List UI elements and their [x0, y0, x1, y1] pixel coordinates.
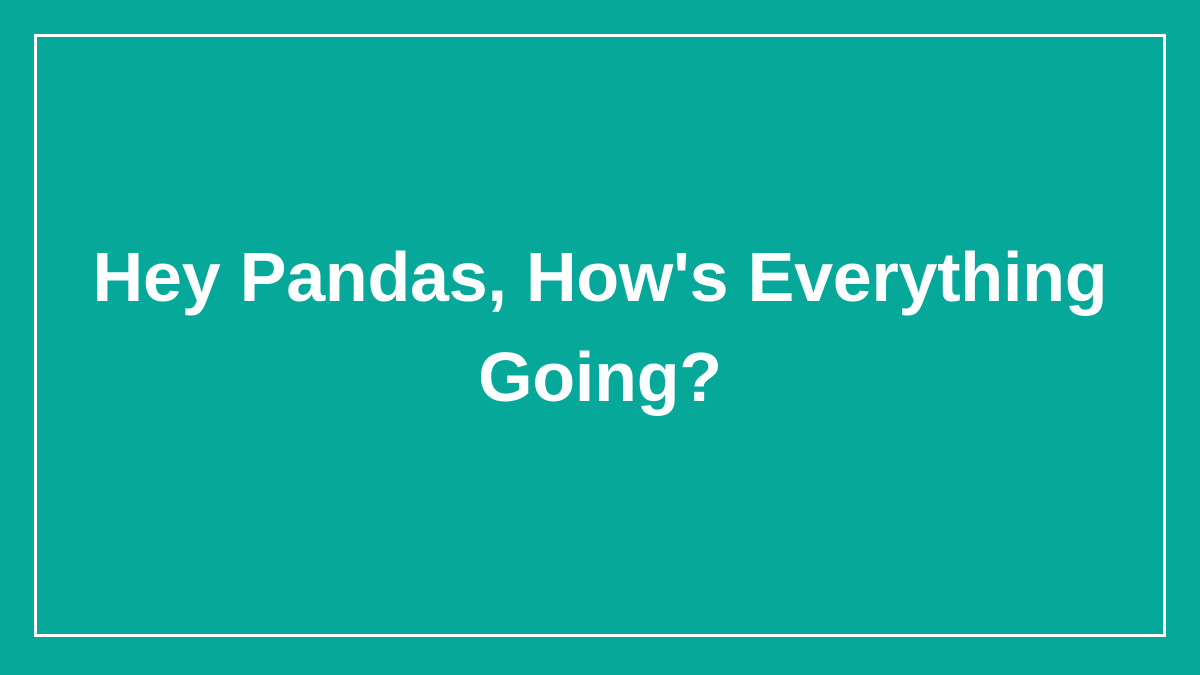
- page-title: Hey Pandas, How's Everything Going?: [93, 227, 1108, 427]
- headline-container: Hey Pandas, How's Everything Going?: [34, 34, 1166, 637]
- slide-canvas: Hey Pandas, How's Everything Going?: [0, 0, 1200, 675]
